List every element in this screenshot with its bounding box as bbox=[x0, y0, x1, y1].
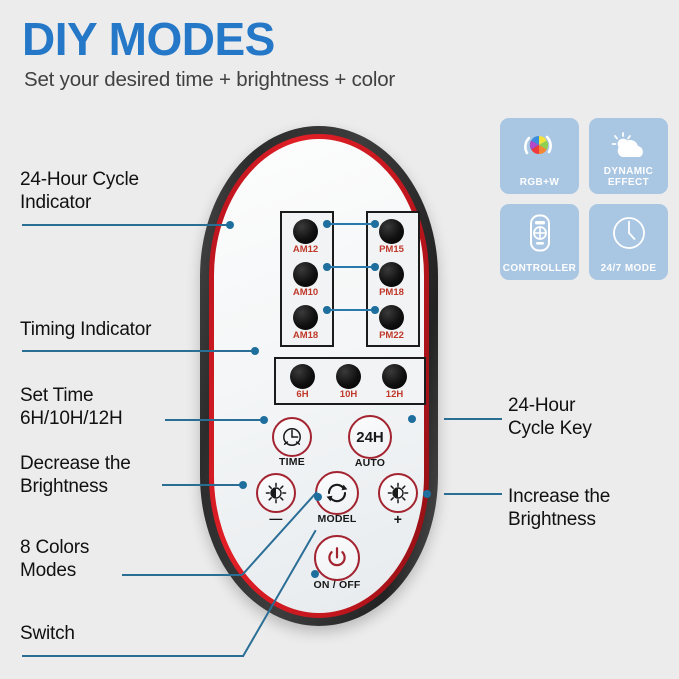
button-dot bbox=[379, 219, 404, 244]
pm-key-0[interactable]: PM15 bbox=[379, 219, 404, 244]
button-dot bbox=[379, 305, 404, 330]
24h-text-icon: 24H bbox=[348, 415, 392, 459]
button-dot bbox=[382, 364, 407, 389]
remote-control-icon bbox=[500, 213, 579, 253]
feature-badge-grid: RGB+W DYNAMIC EFFECT bbox=[500, 118, 668, 280]
alarm-clock-icon bbox=[272, 417, 312, 457]
button-dot bbox=[336, 364, 361, 389]
pair-connector-1 bbox=[327, 266, 375, 268]
button-dot bbox=[290, 364, 315, 389]
button-label: PM15 bbox=[379, 244, 404, 255]
badge-dynamic-effect[interactable]: DYNAMIC EFFECT bbox=[589, 118, 668, 194]
model-button[interactable]: MODEL bbox=[315, 471, 359, 515]
callout-cycle-key: 24-Hour Cycle Key bbox=[508, 394, 668, 440]
button-label: + bbox=[394, 511, 402, 527]
badge-label-line1: DYNAMIC bbox=[604, 166, 653, 177]
remote-control-body: AM12 AM10 AM18 PM15 PM bbox=[200, 126, 438, 626]
am-key-1[interactable]: AM10 bbox=[293, 262, 318, 287]
callout-line1: Increase the bbox=[508, 485, 673, 508]
callout-line1: Set Time bbox=[20, 384, 220, 407]
am-button-group: AM12 AM10 AM18 bbox=[280, 211, 334, 347]
callout-line1: Switch bbox=[20, 622, 220, 645]
cycle-arrow-icon bbox=[315, 471, 359, 515]
hours-key-6h[interactable]: 6H bbox=[290, 364, 315, 389]
button-dot bbox=[379, 262, 404, 287]
button-label: PM22 bbox=[379, 330, 404, 341]
page-title: DIY MODES bbox=[22, 16, 275, 62]
badge-label-line2: EFFECT bbox=[608, 177, 649, 188]
callout-line1: Decrease the bbox=[20, 452, 220, 475]
callout-timing-indicator: Timing Indicator bbox=[20, 318, 240, 341]
callout-line2: Indicator bbox=[20, 191, 220, 214]
remote-face: AM12 AM10 AM18 PM15 PM bbox=[214, 139, 424, 613]
callout-line2: Modes bbox=[20, 559, 220, 582]
leader-dot-colors-modes bbox=[314, 493, 322, 501]
leader-dot-increase-brightness bbox=[423, 490, 431, 498]
leader-dot-decrease-brightness bbox=[239, 481, 247, 489]
brightness-up-button[interactable]: + bbox=[378, 473, 418, 513]
leader-line-colors-modes bbox=[122, 574, 242, 576]
button-label: AM10 bbox=[293, 287, 318, 298]
brightness-down-button[interactable]: — bbox=[256, 473, 296, 513]
badge-label: RGB+W bbox=[500, 177, 579, 188]
badge-label: 24/7 MODE bbox=[589, 263, 668, 274]
badge-label: DYNAMIC EFFECT bbox=[589, 166, 668, 188]
badge-controller[interactable]: CONTROLLER bbox=[500, 204, 579, 280]
callout-line1: 24-Hour bbox=[508, 394, 668, 417]
button-label: 6H bbox=[296, 389, 308, 400]
time-button[interactable]: TIME bbox=[272, 417, 312, 457]
button-dot bbox=[293, 305, 318, 330]
infographic-canvas: DIY MODES Set your desired time + bright… bbox=[0, 0, 679, 679]
leader-dot-set-time bbox=[260, 416, 268, 424]
button-label: TIME bbox=[279, 456, 305, 468]
leader-line-increase-brightness bbox=[444, 493, 502, 495]
callout-line1: 8 Colors bbox=[20, 536, 220, 559]
leader-line-cycle-key bbox=[444, 418, 502, 420]
leader-dot-switch bbox=[311, 570, 319, 578]
leader-dot-timing-indicator bbox=[251, 347, 259, 355]
pair-connector-2 bbox=[327, 309, 375, 311]
am-key-2[interactable]: AM18 bbox=[293, 305, 318, 330]
pm-button-group: PM15 PM18 PM22 bbox=[366, 211, 420, 347]
badge-247-mode[interactable]: 24/7 MODE bbox=[589, 204, 668, 280]
badge-rgbw[interactable]: RGB+W bbox=[500, 118, 579, 194]
clock-icon bbox=[589, 213, 668, 253]
callout-switch: Switch bbox=[20, 622, 220, 645]
leader-line-timing-indicator bbox=[22, 350, 254, 352]
leader-line-decrease-brightness bbox=[162, 484, 242, 486]
callout-decrease-brightness: Decrease the Brightness bbox=[20, 452, 220, 498]
pm-key-1[interactable]: PM18 bbox=[379, 262, 404, 287]
am-key-0[interactable]: AM12 bbox=[293, 219, 318, 244]
leader-line-switch bbox=[22, 655, 244, 657]
callout-line2: Brightness bbox=[20, 475, 220, 498]
button-label: AUTO bbox=[355, 457, 385, 469]
pair-connector-0 bbox=[327, 223, 375, 225]
pm-key-2[interactable]: PM22 bbox=[379, 305, 404, 330]
leader-line-set-time bbox=[165, 419, 264, 421]
callout-set-time: Set Time 6H/10H/12H bbox=[20, 384, 220, 430]
button-dot bbox=[293, 219, 318, 244]
hours-button-group: 6H 10H 12H bbox=[274, 357, 426, 405]
callout-line1: Timing Indicator bbox=[20, 318, 240, 341]
button-label: 10H bbox=[340, 389, 357, 400]
hours-key-10h[interactable]: 10H bbox=[336, 364, 361, 389]
brightness-down-icon bbox=[256, 473, 296, 513]
callout-line2: Cycle Key bbox=[508, 417, 668, 440]
badge-label: CONTROLLER bbox=[500, 263, 579, 274]
page-subtitle: Set your desired time + brightness + col… bbox=[24, 68, 395, 92]
brightness-up-icon bbox=[378, 473, 418, 513]
button-label: ON / OFF bbox=[313, 579, 360, 591]
button-dot bbox=[293, 262, 318, 287]
button-label: PM18 bbox=[379, 287, 404, 298]
color-wheel-icon bbox=[500, 127, 579, 167]
callout-cycle-indicator: 24-Hour Cycle Indicator bbox=[20, 168, 220, 214]
button-label: 12H bbox=[386, 389, 403, 400]
power-icon bbox=[314, 535, 360, 581]
leader-line-cycle-indicator bbox=[22, 224, 230, 226]
hours-key-12h[interactable]: 12H bbox=[382, 364, 407, 389]
button-label: AM18 bbox=[293, 330, 318, 341]
power-button[interactable]: ON / OFF bbox=[314, 535, 360, 581]
callout-increase-brightness: Increase the Brightness bbox=[508, 485, 673, 531]
auto-24h-button[interactable]: 24H AUTO bbox=[348, 415, 392, 459]
button-label: AM12 bbox=[293, 244, 318, 255]
leader-dot-cycle-indicator bbox=[226, 221, 234, 229]
button-label: MODEL bbox=[318, 513, 357, 525]
button-label: — bbox=[269, 511, 282, 526]
callout-line2: Brightness bbox=[508, 508, 673, 531]
sun-cloud-icon bbox=[589, 127, 668, 167]
leader-dot-cycle-key bbox=[408, 415, 416, 423]
button-symbol: 24H bbox=[356, 430, 384, 445]
callout-line1: 24-Hour Cycle bbox=[20, 168, 220, 191]
